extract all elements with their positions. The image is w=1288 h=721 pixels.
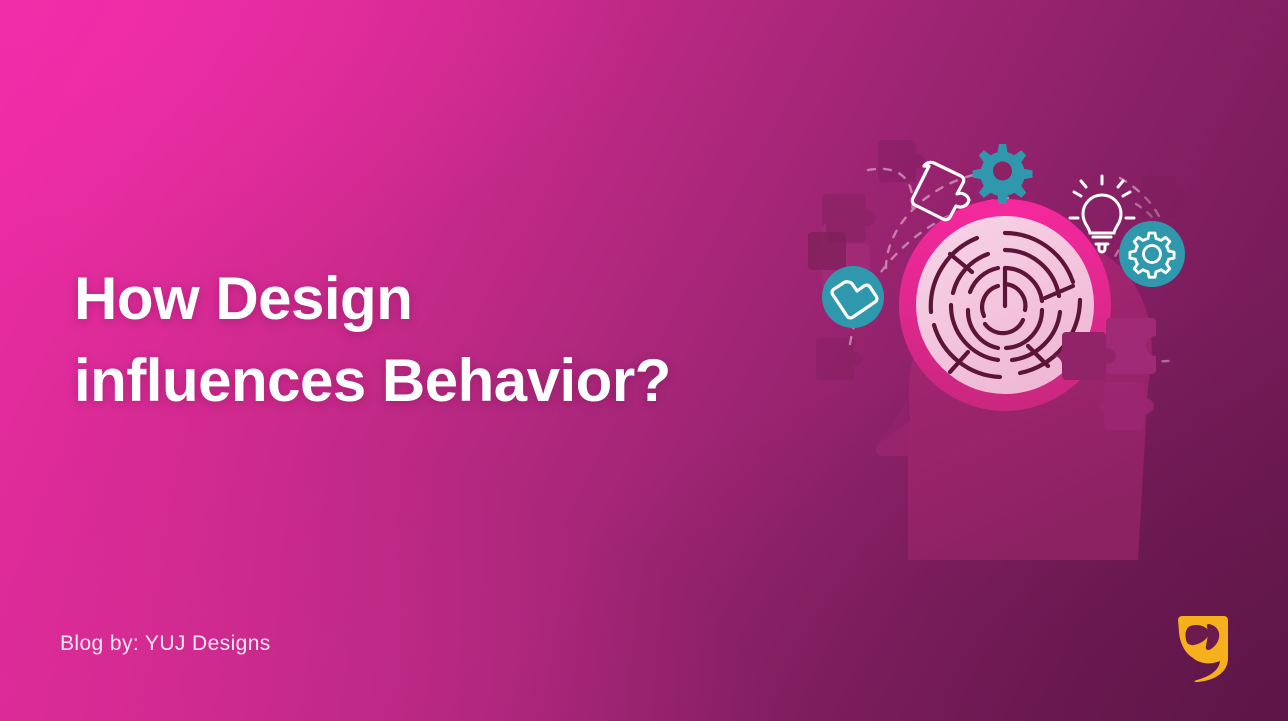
logo-gold-shape [1178, 616, 1228, 682]
gear-circle-icon [1119, 221, 1185, 287]
yuj-designs-logo [1176, 614, 1230, 682]
puzzle-ghost-bottomleft-icon [816, 338, 863, 380]
gear-icon [973, 144, 1033, 204]
puzzle-ghost-right-icon [1141, 176, 1186, 218]
puzzle-circle-icon [822, 266, 884, 328]
page-title: How Design influences Behavior? [74, 258, 774, 422]
blog-banner: How Design influences Behavior? Blog by:… [0, 0, 1288, 721]
hero-illustration [790, 120, 1210, 560]
byline-text: Blog by: YUJ Designs [60, 632, 271, 656]
